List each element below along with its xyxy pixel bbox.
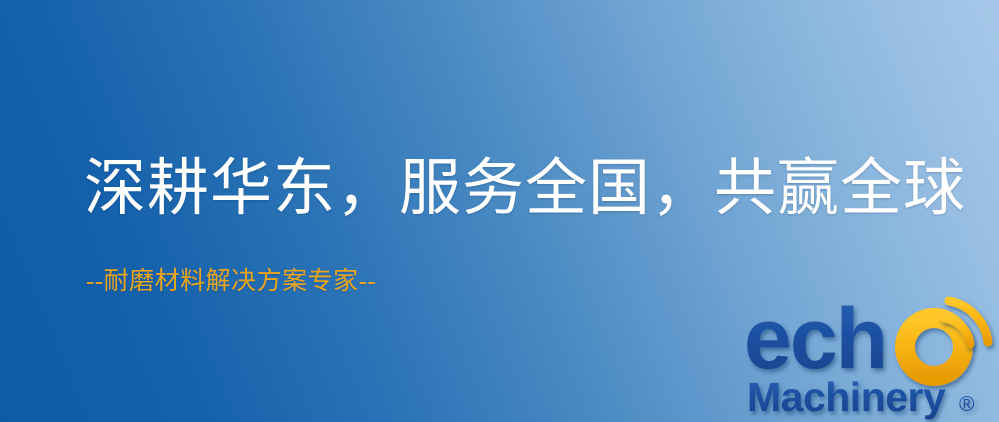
logo-tagline: Machinery ® — [747, 374, 975, 420]
logo-svg: ech Machinery ® — [744, 296, 994, 422]
page-subtitle: --耐磨材料解决方案专家-- — [86, 266, 376, 298]
company-logo[interactable]: ech Machinery ® — [744, 296, 994, 422]
logo-tagline-text: Machinery — [747, 374, 946, 420]
gold-o-icon — [905, 318, 963, 376]
svg-text:ech: ech — [744, 291, 886, 387]
logo-wordmark-ech: ech — [744, 291, 886, 387]
promo-banner: 深耕华东，服务全国，共赢全球 --耐磨材料解决方案专家-- — [0, 0, 999, 422]
registered-mark-icon: ® — [959, 393, 975, 416]
page-title: 深耕华东，服务全国，共赢全球 — [84, 150, 966, 228]
